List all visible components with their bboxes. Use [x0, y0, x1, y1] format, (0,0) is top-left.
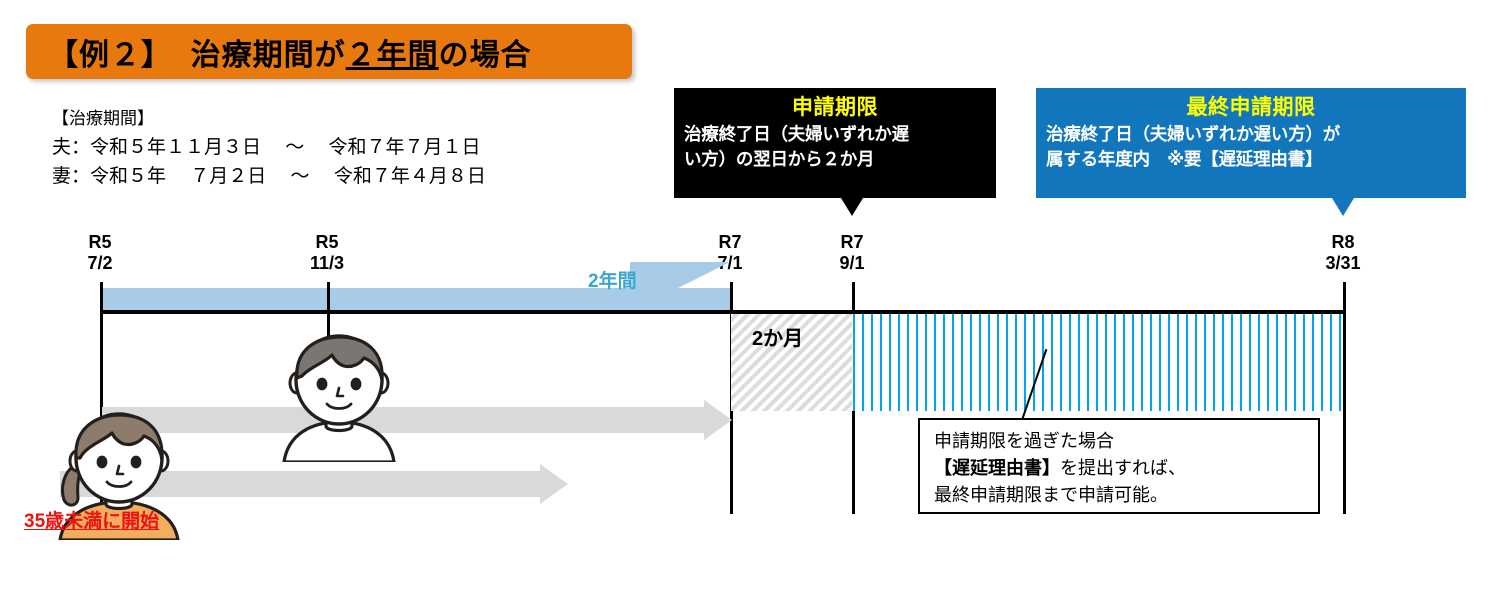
timeline-axis	[100, 310, 1345, 314]
date-label-r5-11-3: R5 11/3	[292, 232, 362, 274]
application-deadline-title: 申請期限	[684, 94, 986, 122]
final-deadline-pointer-icon	[1332, 198, 1354, 216]
final-deadline-body: 治療終了日（夫婦いずれか遅い方）が 属する年度内 ※要【遅延理由書】	[1046, 122, 1456, 172]
explanation-line-3: 最終申請期限まで申請可能。	[934, 482, 1308, 509]
date-label-r8-3-31: R8 3/31	[1308, 232, 1378, 274]
title-main-underlined: ２年間	[346, 39, 439, 72]
explanation-line-2-bold: 【遅延理由書】	[934, 458, 1060, 478]
treatment-period-husband: 夫：令和５年１１月３日 ～ 令和７年７月１日	[52, 133, 486, 162]
explanation-callout-box: 申請期限を過ぎた場合 【遅延理由書】を提出すれば、 最終申請期限まで申請可能。	[918, 418, 1320, 514]
date-label-day: 7/2	[65, 253, 135, 274]
date-label-era: R5	[65, 232, 135, 253]
date-label-r5-7-2: R5 7/2	[65, 232, 135, 274]
application-deadline-body: 治療終了日（夫婦いずれか遅 い方）の翌日から２か月	[684, 122, 986, 172]
application-deadline-body-line1: 治療終了日（夫婦いずれか遅	[684, 122, 986, 147]
two-month-label: 2か月	[752, 322, 803, 351]
application-deadline-body-line2: い方）の翌日から２か月	[684, 147, 986, 172]
page-title: 【例２】 治療期間が２年間の場合	[26, 30, 532, 74]
title-prefix: 【例２】	[48, 39, 172, 72]
title-main-after: の場合	[439, 39, 532, 72]
application-deadline-pointer-icon	[841, 198, 863, 216]
explanation-line-1: 申請期限を過ぎた場合	[934, 428, 1308, 455]
husband-treatment-arrow	[102, 400, 732, 440]
date-label-day: 11/3	[292, 253, 362, 274]
arrow-head-icon	[704, 400, 732, 440]
date-label-era: R5	[292, 232, 362, 253]
tick-r8-3-31	[1343, 282, 1346, 514]
two-year-label: 2年間	[588, 266, 637, 293]
date-label-r7-9-1: R7 9/1	[817, 232, 887, 274]
infographic-canvas: 【例２】 治療期間が２年間の場合 【治療期間】 夫：令和５年１１月３日 ～ 令和…	[0, 0, 1504, 590]
age-requirement-note: 35歳未満に開始	[24, 506, 159, 533]
treatment-period-wife: 妻：令和５年 ７月２日 ～ 令和７年４月８日	[52, 162, 486, 191]
title-banner: 【例２】 治療期間が２年間の場合	[26, 24, 632, 79]
two-year-band-arrowhead-icon	[630, 262, 730, 312]
final-deadline-body-line2: 属する年度内 ※要【遅延理由書】	[1046, 147, 1456, 172]
final-deadline-body-line1: 治療終了日（夫婦いずれか遅い方）が	[1046, 122, 1456, 147]
final-deadline-title: 最終申請期限	[1046, 94, 1456, 122]
date-label-era: R8	[1308, 232, 1378, 253]
treatment-period-block: 【治療期間】 夫：令和５年１１月３日 ～ 令和７年７月１日 妻：令和５年 ７月２…	[52, 104, 486, 191]
final-deadline-box: 最終申請期限 治療終了日（夫婦いずれか遅い方）が 属する年度内 ※要【遅延理由書…	[1036, 88, 1466, 198]
date-label-day: 9/1	[817, 253, 887, 274]
arrow-head-icon	[540, 464, 568, 504]
date-label-day: 3/31	[1308, 253, 1378, 274]
date-label-era: R7	[817, 232, 887, 253]
husband-illustration	[264, 334, 414, 462]
treatment-period-heading: 【治療期間】	[52, 104, 486, 133]
title-main-before: 治療期間が	[191, 39, 346, 72]
grace-period-striped-region	[853, 312, 1343, 411]
explanation-line-2: 【遅延理由書】を提出すれば、	[934, 455, 1308, 482]
date-label-era: R7	[695, 232, 765, 253]
explanation-line-2-rest: を提出すれば、	[1060, 458, 1186, 478]
application-deadline-box: 申請期限 治療終了日（夫婦いずれか遅 い方）の翌日から２か月	[674, 88, 996, 198]
